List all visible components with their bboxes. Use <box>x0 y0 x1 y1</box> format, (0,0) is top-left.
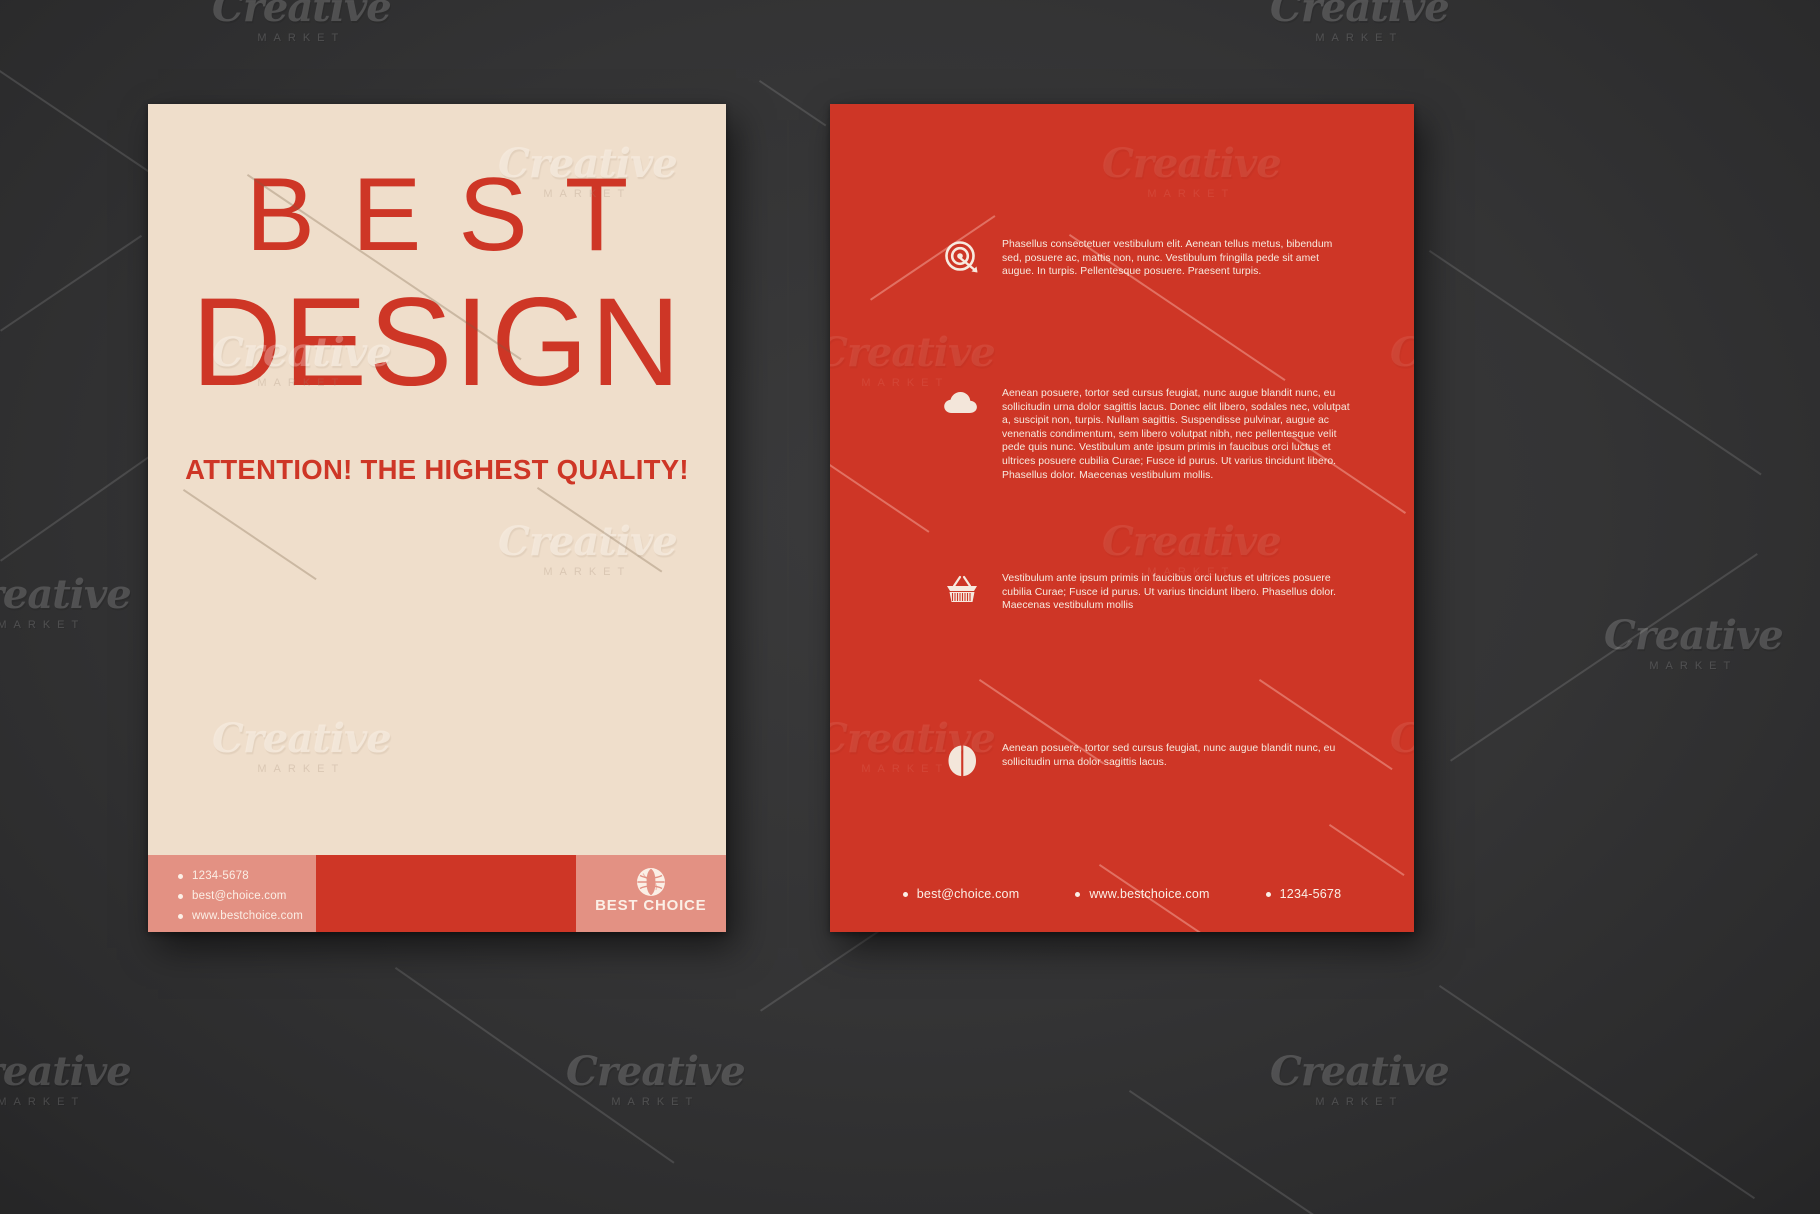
bullet-dot-icon <box>1266 892 1271 897</box>
feature-text: Aenean posuere, tortor sed cursus feugia… <box>1002 742 1354 769</box>
diagonal-guide-line <box>830 464 929 533</box>
feature-text: Vestibulum ante ipsum primis in faucibus… <box>1002 572 1354 613</box>
cloud-icon <box>942 387 982 415</box>
contact-website: www.bestchoice.com <box>1089 884 1209 904</box>
watermark-subtext: MARKET <box>1102 188 1281 200</box>
bullet-dot-icon <box>1075 892 1080 897</box>
watermark-script: Creative <box>498 522 677 562</box>
feature-text: Phasellus consectetuer vestibulum elit. … <box>1002 238 1354 279</box>
creative-market-watermark: Creative MARKET <box>212 719 391 775</box>
feature-block: Aenean posuere, tortor sed cursus feugia… <box>942 742 1354 778</box>
footer-brand-segment: BEST CHOICE <box>576 855 726 932</box>
creative-market-watermark: Creative MARKET <box>498 522 677 578</box>
poster-subtitle: ATTENTION! THE HIGHEST QUALITY! <box>148 454 726 486</box>
feature-text: Aenean posuere, tortor sed cursus feugia… <box>1002 387 1354 482</box>
contact-phone: 1234-5678 <box>192 866 249 886</box>
feature-block: Phasellus consectetuer vestibulum elit. … <box>942 238 1354 279</box>
contact-item[interactable]: 1234-5678 <box>178 866 316 886</box>
target-arrow-icon <box>942 238 982 274</box>
watermark-subtext: MARKET <box>1390 377 1414 389</box>
shopping-basket-icon <box>942 572 982 604</box>
contact-item[interactable]: www.bestchoice.com <box>178 906 316 926</box>
watermark-subtext: MARKET <box>212 763 391 775</box>
bullet-dot-icon <box>178 894 183 899</box>
diagonal-guide-line <box>537 487 662 573</box>
contact-website: www.bestchoice.com <box>192 906 303 926</box>
watermark-script: Creative <box>1102 144 1281 184</box>
creative-market-watermark: Creative MARKET <box>830 333 995 389</box>
watermark-subtext: MARKET <box>498 566 677 578</box>
watermark-script: Creative <box>1390 719 1414 759</box>
bullet-dot-icon <box>903 892 908 897</box>
poster-footer-contacts: best@choice.com www.bestchoice.com 1234-… <box>830 884 1414 904</box>
poster-title-line-1: BEST <box>148 166 726 265</box>
poster-title-group: BEST DESIGN <box>148 166 726 406</box>
diagonal-guide-line <box>183 489 317 580</box>
watermark-script: Creative <box>830 333 995 373</box>
watermark-script: Creative <box>1390 333 1414 373</box>
footer-accent-segment <box>316 855 576 932</box>
watermark-script: Creative <box>1102 522 1281 562</box>
contact-item[interactable]: 1234-5678 <box>1266 884 1342 904</box>
bullet-dot-icon <box>178 874 183 879</box>
poster-front-page[interactable]: BEST DESIGN ATTENTION! THE HIGHEST QUALI… <box>148 104 726 932</box>
creative-market-watermark: Creative MARKET <box>1390 719 1414 775</box>
brand-label: BEST CHOICE <box>576 897 726 914</box>
contact-phone: 1234-5678 <box>1280 884 1342 904</box>
contact-email: best@choice.com <box>192 886 287 906</box>
poster-title-line-2: DESIGN <box>148 279 726 407</box>
feature-block: Vestibulum ante ipsum primis in faucibus… <box>942 572 1354 613</box>
creative-market-watermark: Creative MARKET <box>1390 333 1414 389</box>
footer-contact-segment: 1234-5678 best@choice.com www.bestchoice… <box>148 855 316 932</box>
globe-icon <box>636 867 666 897</box>
watermark-subtext: MARKET <box>1390 763 1414 775</box>
contact-email: best@choice.com <box>917 884 1020 904</box>
poster-back-page[interactable]: Creative MARKET Creative MARKET Creative… <box>830 104 1414 932</box>
diagonal-guide-line <box>1329 824 1405 876</box>
contact-item[interactable]: best@choice.com <box>178 886 316 906</box>
poster-footer-bar: 1234-5678 best@choice.com www.bestchoice… <box>148 855 726 932</box>
feature-block: Aenean posuere, tortor sed cursus feugia… <box>942 387 1354 482</box>
creative-market-watermark: Creative MARKET <box>1102 144 1281 200</box>
creative-market-watermark: Creative MARKET <box>1102 522 1281 578</box>
contact-item[interactable]: best@choice.com <box>903 884 1020 904</box>
coffee-bean-icon <box>942 742 982 778</box>
watermark-script: Creative <box>212 719 391 759</box>
contact-item[interactable]: www.bestchoice.com <box>1075 884 1209 904</box>
bullet-dot-icon <box>178 914 183 919</box>
